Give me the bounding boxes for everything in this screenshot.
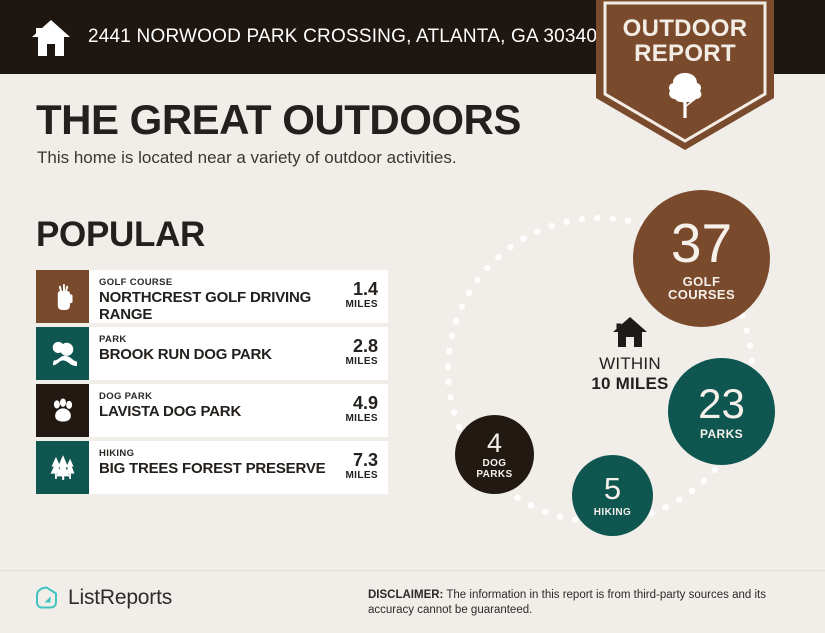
center-radius-text: 10 MILES <box>550 374 710 394</box>
list-item[interactable]: PARK BROOK RUN DOG PARK 2.8 MILES <box>36 327 388 380</box>
brand-name: ListReports <box>68 586 172 610</box>
poi-category: PARK <box>99 334 326 346</box>
poi-text: HIKING BIG TREES FOREST PRESERVE <box>89 441 326 494</box>
center-within-text: WITHIN <box>550 354 710 374</box>
disclaimer: DISCLAIMER: The information in this repo… <box>368 588 798 618</box>
poi-text: GOLF COURSE NORTHCREST GOLF DRIVING RANG… <box>89 270 326 323</box>
badge-title: OUTDOOR REPORT <box>596 16 774 66</box>
poi-distance-value: 2.8 <box>326 337 378 356</box>
list-item[interactable]: HIKING BIG TREES FOREST PRESERVE 7.3 MIL… <box>36 441 388 494</box>
home-icon <box>612 315 648 348</box>
tree-icon <box>667 72 703 118</box>
poi-distance-unit: MILES <box>326 413 378 425</box>
home-icon <box>30 18 72 58</box>
badge-title-line2: REPORT <box>596 41 774 66</box>
popular-places-list: GOLF COURSE NORTHCREST GOLF DRIVING RANG… <box>36 270 388 498</box>
golf-bag-icon <box>50 282 76 312</box>
poi-distance-unit: MILES <box>326 299 378 311</box>
brand-logo[interactable]: ListReports <box>34 585 172 611</box>
paw-print-icon <box>49 397 77 425</box>
poi-distance-value: 4.9 <box>326 394 378 413</box>
poi-distance: 2.8 MILES <box>326 327 388 380</box>
park-trees-icon <box>48 340 78 368</box>
orbit-center-label: WITHIN 10 MILES <box>550 315 710 394</box>
disclaimer-label: DISCLAIMER: <box>368 589 443 601</box>
list-item[interactable]: DOG PARK LAVISTA DOG PARK 4.9 MILES <box>36 384 388 437</box>
poi-distance-unit: MILES <box>326 356 378 368</box>
poi-distance: 4.9 MILES <box>326 384 388 437</box>
bubble-label: GOLF COURSES <box>668 275 735 301</box>
property-address: 2441 NORWOOD PARK CROSSING, ATLANTA, GA … <box>88 26 597 48</box>
section-title-popular: POPULAR <box>36 215 205 255</box>
bubble-label: HIKING <box>594 506 631 519</box>
poi-category: GOLF COURSE <box>99 277 326 289</box>
poi-icon-tile <box>36 327 89 380</box>
poi-icon-tile <box>36 441 89 494</box>
outdoor-report-badge: OUTDOOR REPORT <box>596 0 774 150</box>
outdoor-report-infographic: 2441 NORWOOD PARK CROSSING, ATLANTA, GA … <box>0 0 825 633</box>
bubble-value: 5 <box>604 473 621 504</box>
page-subtitle: This home is located near a variety of o… <box>37 148 457 168</box>
amenities-bubble-chart: 37 GOLF COURSES 23 PARKS 5 HIKING 4 DOG … <box>430 175 825 550</box>
poi-distance-unit: MILES <box>326 470 378 482</box>
page-title: THE GREAT OUTDOORS <box>36 96 521 144</box>
poi-distance-value: 1.4 <box>326 280 378 299</box>
poi-name: BROOK RUN DOG PARK <box>99 346 326 363</box>
poi-category: HIKING <box>99 448 326 460</box>
poi-distance: 7.3 MILES <box>326 441 388 494</box>
poi-icon-tile <box>36 384 89 437</box>
bubble-value: 37 <box>671 216 732 271</box>
bubble-golf-courses[interactable]: 37 GOLF COURSES <box>633 190 770 327</box>
poi-distance-value: 7.3 <box>326 451 378 470</box>
bubble-dog-parks[interactable]: 4 DOG PARKS <box>455 415 534 494</box>
poi-text: PARK BROOK RUN DOG PARK <box>89 327 326 380</box>
pine-trees-icon <box>48 454 78 481</box>
badge-title-line1: OUTDOOR <box>596 16 774 41</box>
poi-text: DOG PARK LAVISTA DOG PARK <box>89 384 326 437</box>
poi-icon-tile <box>36 270 89 323</box>
bubble-label: DOG PARKS <box>476 458 512 480</box>
poi-name: BIG TREES FOREST PRESERVE <box>99 460 326 477</box>
poi-name: LAVISTA DOG PARK <box>99 403 326 420</box>
bubble-value: 4 <box>487 430 502 457</box>
poi-category: DOG PARK <box>99 391 326 403</box>
bubble-label-line2: PARKS <box>476 469 512 480</box>
poi-distance: 1.4 MILES <box>326 270 388 323</box>
footer-divider <box>0 570 825 571</box>
list-item[interactable]: GOLF COURSE NORTHCREST GOLF DRIVING RANG… <box>36 270 388 323</box>
bubble-label-line1: DOG <box>476 458 512 469</box>
bubble-label-line2: COURSES <box>668 288 735 301</box>
bubble-label: PARKS <box>700 428 743 441</box>
bubble-hiking[interactable]: 5 HIKING <box>572 455 653 536</box>
poi-name: NORTHCREST GOLF DRIVING RANGE <box>99 289 326 323</box>
listreports-logo-icon <box>34 585 60 611</box>
